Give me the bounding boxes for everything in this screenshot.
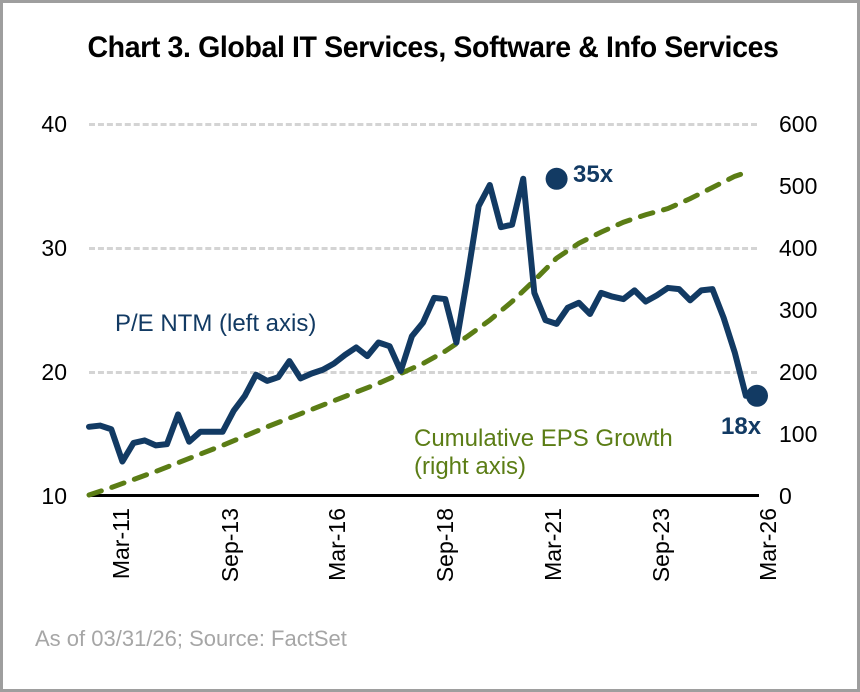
legend-eps-growth: Cumulative EPS Growth (right axis) bbox=[414, 425, 673, 482]
source-footnote: As of 03/31/26; Source: FactSet bbox=[35, 626, 347, 652]
last-value-label: 18x bbox=[721, 413, 761, 441]
peak-value-label: 35x bbox=[573, 161, 613, 189]
plot-area bbox=[3, 3, 860, 692]
chart-container: Chart 3. Global IT Services, Software & … bbox=[0, 0, 860, 692]
peak-data-point-marker bbox=[546, 168, 568, 190]
legend-pe-ntm: P/E NTM (left axis) bbox=[115, 310, 316, 338]
last-data-point-marker bbox=[746, 385, 768, 407]
